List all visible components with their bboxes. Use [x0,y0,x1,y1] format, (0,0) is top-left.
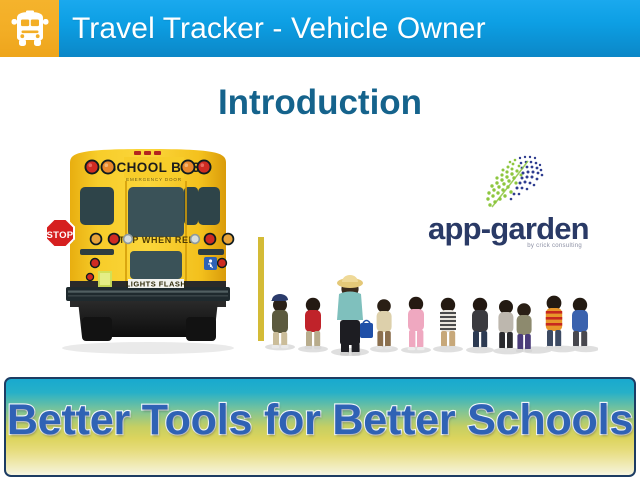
leaf-icon [476,149,556,215]
logo-tagline: by crick consulting [428,243,588,249]
svg-text:EMERGENCY DOOR: EMERGENCY DOOR [126,177,182,182]
svg-text:LIGHTS FLASH: LIGHTS FLASH [126,280,187,289]
logo-wordmark: app-garden [428,211,588,247]
app-garden-logo: app-garden by crick consulting [428,149,588,289]
slide-header: Travel Tracker - Vehicle Owner [0,0,640,57]
school-bus-rear-illustration: SCHOOL BUS EMERGENCY DOOR [38,141,263,361]
slide-heading: Introduction [0,83,640,123]
tagline-text: Better Tools for Better Schools [6,396,634,445]
presentation-slide: Travel Tracker - Vehicle Owner Introduct… [0,0,640,480]
tagline-banner: Better Tools for Better Schools [4,377,636,477]
school-bus-icon [0,0,59,57]
svg-text:STOP: STOP [47,230,74,241]
slide-content: Introduction [0,57,640,377]
page-title: Travel Tracker - Vehicle Owner [72,6,486,52]
